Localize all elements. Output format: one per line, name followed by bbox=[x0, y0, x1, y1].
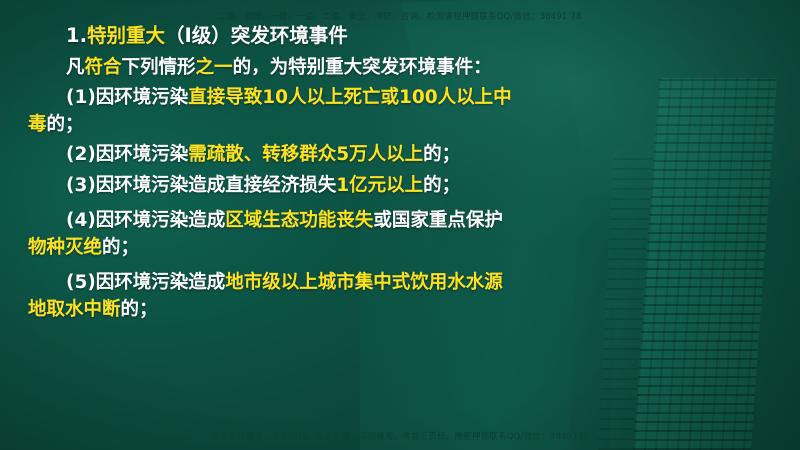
item-highlight: 地市级以上城市集中式饮用水水源 bbox=[225, 272, 503, 293]
item-label: (5)因环境污染造成 bbox=[66, 272, 225, 293]
list-item: (4)因环境污染造成区域生态功能丧失或国家重点保护 bbox=[66, 212, 778, 231]
list-item: (3)因环境污染造成直接经济损失1亿元以上的； bbox=[66, 177, 778, 196]
item-highlight: 直接导致10人以上死亡或100人以上中 bbox=[188, 87, 511, 108]
item-label: (1)因环境污染 bbox=[66, 87, 188, 108]
list-item: (5)因环境污染造成地市级以上城市集中式饮用水水源 bbox=[66, 274, 778, 293]
title-highlight: 特别重大 bbox=[87, 24, 165, 47]
list-item: (1)因环境污染直接导致10人以上死亡或100人以上中 bbox=[66, 89, 778, 108]
item-label: (2)因环境污染 bbox=[66, 144, 188, 165]
item-highlight: 1亿元以上 bbox=[336, 175, 423, 196]
intro-line: 凡符合下列情形之一的，为特别重大突发环境事件： bbox=[66, 59, 778, 78]
intro-part-2: 符合 bbox=[85, 57, 122, 78]
item-rest: 的； bbox=[423, 144, 460, 165]
list-item-wrap: 物种灭绝的； bbox=[28, 239, 778, 258]
intro-part-5: 的，为特别重大突发环境事件： bbox=[233, 57, 492, 78]
presentation-slide: 二建、监理、一建、一造、二造、安全、消防、咨询、检测课程押题联系QQ/微信：38… bbox=[0, 0, 800, 450]
intro-part-1: 凡 bbox=[66, 57, 85, 78]
item-highlight: 需疏散、转移群众5万人以上 bbox=[188, 144, 423, 165]
item-highlight: 区域生态功能丧失 bbox=[225, 210, 373, 231]
item-wrap-rest: 的； bbox=[47, 114, 84, 135]
item-wrap-highlight: 地取水中断 bbox=[28, 299, 121, 320]
item-rest: 或国家重点保护 bbox=[373, 210, 503, 231]
title-rest: （I级）突发环境事件 bbox=[165, 24, 348, 47]
item-wrap-highlight: 毒 bbox=[28, 114, 47, 135]
item-rest: 的； bbox=[423, 175, 460, 196]
list-item: (2)因环境污染需疏散、转移群众5万人以上的； bbox=[66, 146, 778, 165]
title-number: 1. bbox=[66, 24, 87, 47]
item-wrap-rest: 的； bbox=[102, 237, 139, 258]
watermark-top-text: 二建、监理、一建、一造、二造、安全、消防、咨询、检测课程押题联系QQ/微信：38… bbox=[0, 10, 800, 22]
list-item-wrap: 地取水中断的； bbox=[28, 301, 778, 320]
item-wrap-highlight: 物种灭绝 bbox=[28, 237, 102, 258]
intro-part-4: 之一 bbox=[196, 57, 233, 78]
slide-title: 1.特别重大（I级）突发环境事件 bbox=[66, 26, 778, 46]
item-label: (3)因环境污染造成直接经济损失 bbox=[66, 175, 336, 196]
list-item-wrap: 毒的； bbox=[28, 116, 778, 135]
intro-part-3: 下列情形 bbox=[122, 57, 196, 78]
watermark-bottom-text: 名师面授精华、央企内训、考点串讲、习题模考、考前三页纸、绝密押题联系QQ/微信：… bbox=[0, 430, 800, 442]
item-label: (4)因环境污染造成 bbox=[66, 210, 225, 231]
slide-content: 1.特别重大（I级）突发环境事件 凡符合下列情形之一的，为特别重大突发环境事件：… bbox=[0, 26, 800, 319]
item-wrap-rest: 的； bbox=[121, 299, 158, 320]
